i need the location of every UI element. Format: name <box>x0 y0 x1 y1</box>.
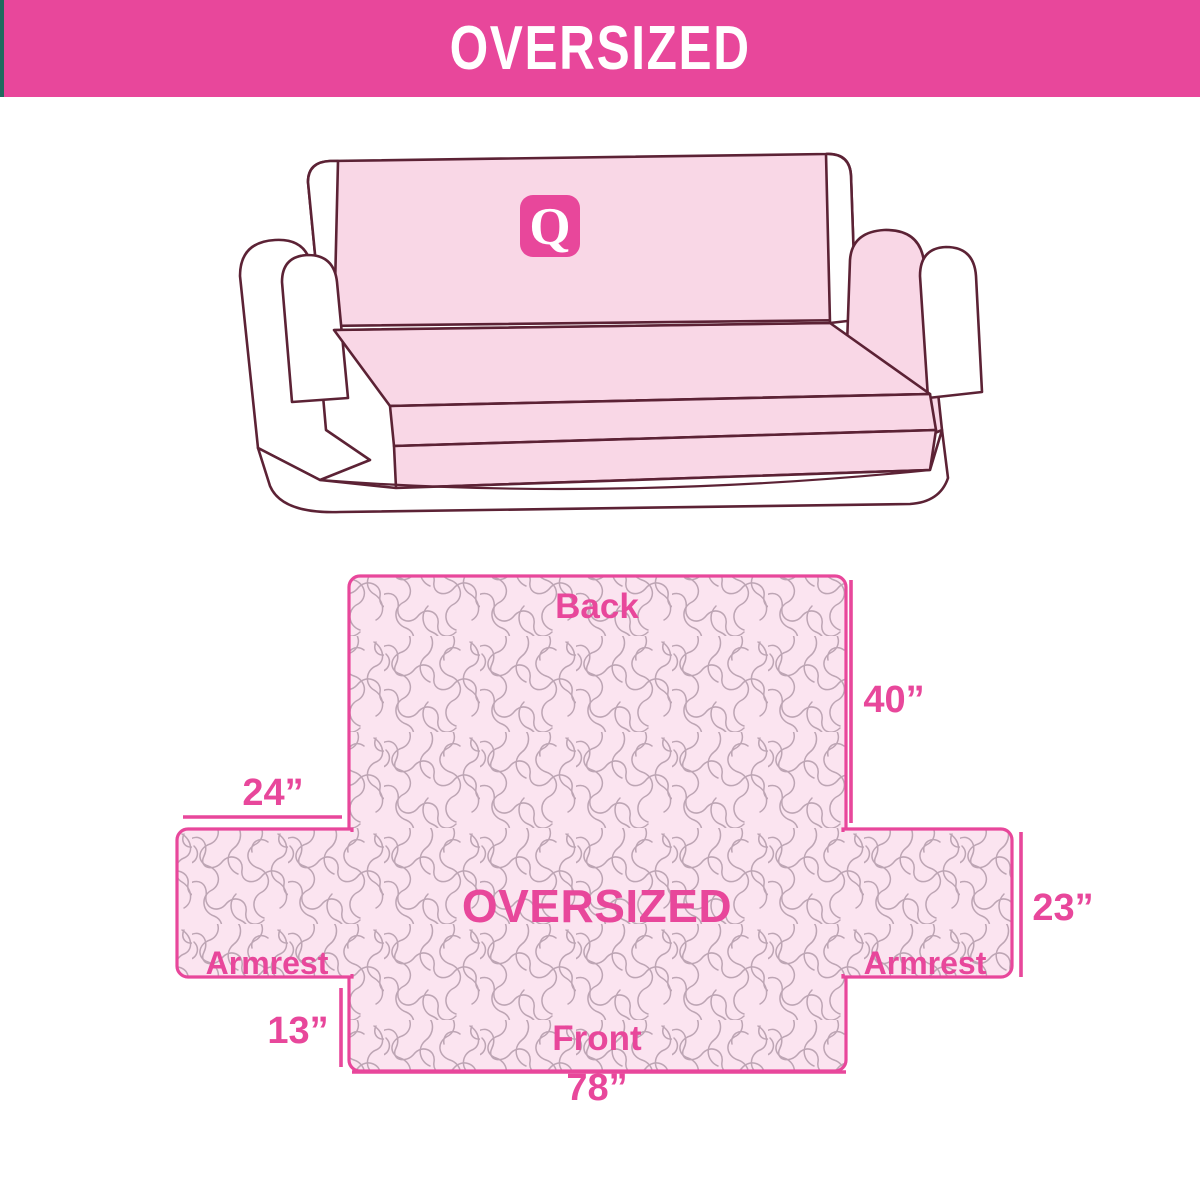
cover-seam-right-mask <box>841 832 849 974</box>
cover-main-body <box>349 576 846 1071</box>
cover-seam-left-mask <box>346 832 354 974</box>
dim-label-13: 13” <box>267 1010 328 1052</box>
region-label-back: Back <box>555 587 639 626</box>
dim-label-23: 23” <box>1032 887 1093 929</box>
dim-label-40: 40” <box>863 679 924 721</box>
sofa-back-panel <box>308 154 856 326</box>
dim-label-24: 24” <box>242 772 303 814</box>
logo-letter: Q <box>529 198 570 256</box>
region-label-armrest-right: Armrest <box>864 945 987 981</box>
sofa-body <box>240 154 982 512</box>
region-label-front: Front <box>552 1019 642 1058</box>
size-chart-page: OVERSIZED <box>0 0 1200 1200</box>
dim-label-78: 78” <box>566 1067 627 1109</box>
region-label-oversized: OVERSIZED <box>462 880 732 932</box>
sofa-seat-cushion <box>334 323 930 406</box>
cover-flat-diagram: 24” 40” 23” 13” 78” Back OVERSIZED Armre… <box>0 540 1200 1160</box>
brand-logo: Q <box>520 195 580 257</box>
header-accent-stripe <box>0 0 4 97</box>
header-banner: OVERSIZED <box>0 0 1200 97</box>
sofa-right-armrest-inner <box>920 247 982 398</box>
sofa-illustration: Q <box>230 130 990 520</box>
page-title: OVERSIZED <box>449 18 750 80</box>
cover-outline-group <box>177 576 1012 1071</box>
region-label-armrest-left: Armrest <box>206 945 329 981</box>
